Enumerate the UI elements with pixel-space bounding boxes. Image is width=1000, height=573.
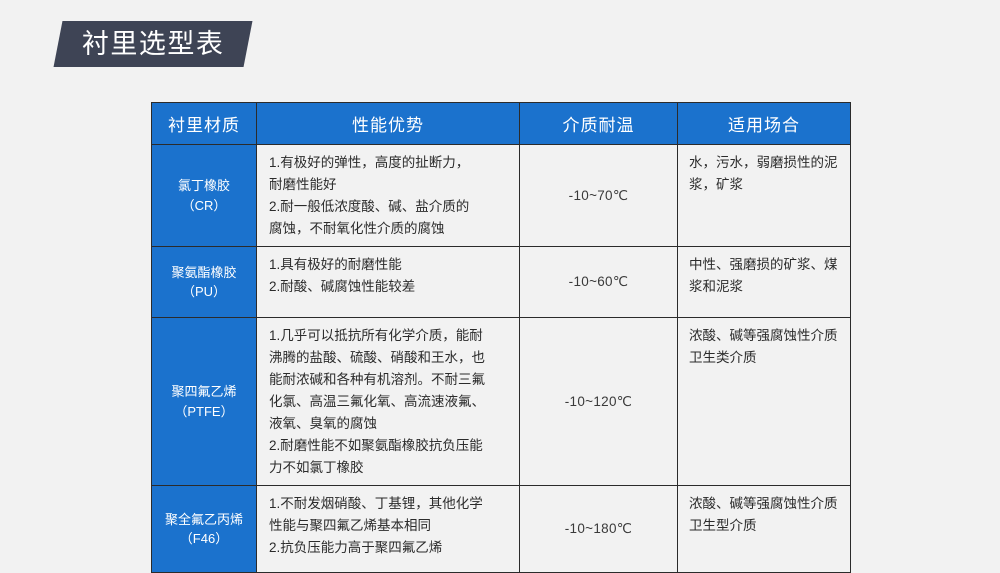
table-header-row: 衬里材质 性能优势 介质耐温 适用场合 [152, 103, 851, 145]
performance-cell: 1.不耐发烟硝酸、丁基锂，其他化学 性能与聚四氟乙烯基本相同 2.抗负压能力高于… [257, 486, 520, 573]
application-cell: 水，污水，弱磨损性的泥 浆，矿浆 [678, 145, 851, 247]
material-name: 聚四氟乙烯 [171, 384, 236, 399]
column-header-application: 适用场合 [678, 103, 851, 145]
material-name: 聚氨酯橡胶 [171, 265, 236, 280]
temperature-cell: -10~60℃ [520, 247, 678, 318]
column-header-material: 衬里材质 [152, 103, 257, 145]
performance-cell: 1.几乎可以抵抗所有化学介质，能耐 沸腾的盐酸、硫酸、硝酸和王水，也 能耐浓碱和… [257, 318, 520, 486]
application-cell: 中性、强磨损的矿浆、煤 浆和泥浆 [678, 247, 851, 318]
table-row: 氯丁橡胶 （CR） 1.有极好的弹性，高度的扯断力， 耐磨性能好 2.耐一般低浓… [152, 145, 851, 247]
temperature-cell: -10~70℃ [520, 145, 678, 247]
temperature-cell: -10~120℃ [520, 318, 678, 486]
material-cell: 聚氨酯橡胶 （PU） [152, 247, 257, 318]
performance-cell: 1.具有极好的耐磨性能 2.耐酸、碱腐蚀性能较差 [257, 247, 520, 318]
application-cell: 浓酸、碱等强腐蚀性介质 卫生型介质 [678, 486, 851, 573]
temperature-cell: -10~180℃ [520, 486, 678, 573]
material-cell: 聚全氟乙丙烯 （F46） [152, 486, 257, 573]
table-row: 聚全氟乙丙烯 （F46） 1.不耐发烟硝酸、丁基锂，其他化学 性能与聚四氟乙烯基… [152, 486, 851, 573]
material-abbr: （CR） [154, 196, 254, 216]
page-title-banner: 衬里选型表 [54, 21, 253, 67]
material-name: 聚全氟乙丙烯 [165, 512, 243, 527]
lining-selection-table: 衬里材质 性能优势 介质耐温 适用场合 氯丁橡胶 （CR） 1.有极好的弹性，高… [151, 102, 851, 573]
page-title: 衬里选型表 [82, 31, 225, 58]
material-cell: 氯丁橡胶 （CR） [152, 145, 257, 247]
material-name: 氯丁橡胶 [178, 178, 230, 193]
column-header-temperature: 介质耐温 [520, 103, 678, 145]
material-abbr: （PTFE） [154, 402, 254, 422]
table-row: 聚四氟乙烯 （PTFE） 1.几乎可以抵抗所有化学介质，能耐 沸腾的盐酸、硫酸、… [152, 318, 851, 486]
performance-cell: 1.有极好的弹性，高度的扯断力， 耐磨性能好 2.耐一般低浓度酸、碱、盐介质的 … [257, 145, 520, 247]
material-abbr: （PU） [154, 282, 254, 302]
column-header-performance: 性能优势 [257, 103, 520, 145]
application-cell: 浓酸、碱等强腐蚀性介质 卫生类介质 [678, 318, 851, 486]
material-cell: 聚四氟乙烯 （PTFE） [152, 318, 257, 486]
material-abbr: （F46） [154, 529, 254, 549]
table-row: 聚氨酯橡胶 （PU） 1.具有极好的耐磨性能 2.耐酸、碱腐蚀性能较差 -10~… [152, 247, 851, 318]
